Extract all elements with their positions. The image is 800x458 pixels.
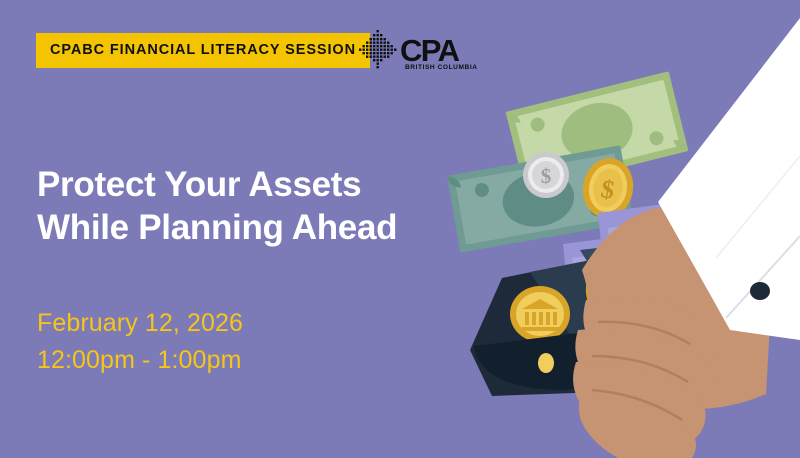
silver-dollar-coin: $	[523, 152, 569, 198]
page-title: Protect Your Assets While Planning Ahead	[37, 163, 397, 249]
wallet-clasp	[538, 353, 554, 373]
session-banner: CPABC FINANCIAL LITERACY SESSION	[36, 33, 370, 68]
dotted-maple-leaf-icon	[357, 29, 399, 71]
session-banner-label: CPABC FINANCIAL LITERACY SESSION	[50, 43, 356, 58]
svg-text:$: $	[541, 164, 552, 188]
hand-holding-wallet-illustration: $ $	[430, 0, 800, 458]
cuff-button-icon	[750, 282, 770, 300]
event-promo-poster: CPABC FINANCIAL LITERACY SESSION	[0, 0, 800, 458]
gold-bank-coin-wallet	[510, 286, 570, 342]
event-datetime: February 12, 2026 12:00pm - 1:00pm	[37, 305, 243, 379]
